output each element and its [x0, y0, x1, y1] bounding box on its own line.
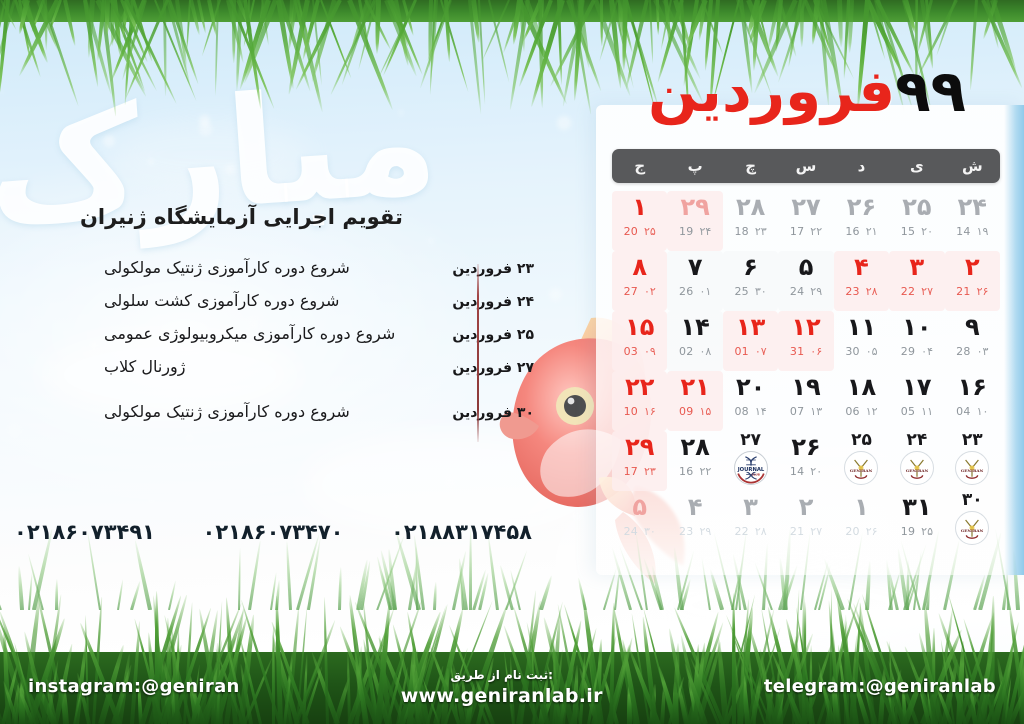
calendar-day-cell[interactable]: ۲۹۲۴19	[667, 191, 722, 251]
gregorian-date: 30	[845, 345, 859, 358]
day-subdates: ۱۹14	[956, 225, 988, 238]
hijri-date: ۲۲	[699, 465, 711, 478]
day-number: ۲۵	[902, 195, 931, 220]
gregorian-date: 04	[956, 405, 970, 418]
calendar-day-cell[interactable]: ۷۰۱26	[667, 251, 722, 311]
day-subdates: ۲۸22	[734, 525, 766, 538]
day-number: ۲۴	[958, 195, 987, 220]
hijri-date: ۰۱	[699, 285, 711, 298]
gregorian-date: 03	[624, 345, 638, 358]
event-date: ۳۰ فروردین	[479, 405, 534, 421]
instagram-handle[interactable]: instagram:@geniran	[28, 676, 240, 697]
footer-bar: instagram:@geniran ثبت نام از طریق: www.…	[0, 648, 1024, 724]
calendar-day-cell[interactable]: ۲۲۷21	[778, 491, 833, 551]
gregorian-date: 01	[734, 345, 748, 358]
calendar-day-cell[interactable]: ۲۲۶21	[945, 251, 1000, 311]
hijri-date: ۲۸	[755, 525, 767, 538]
hijri-date: ۲۶	[977, 285, 989, 298]
day-subdates: ۰۷01	[734, 345, 766, 358]
geniran-logo-icon: GENIRAN	[844, 451, 878, 485]
day-subdates: ۲۳17	[624, 465, 656, 478]
day-subdates: ۲۵19	[901, 525, 933, 538]
hijri-date: ۳۰	[644, 525, 656, 538]
calendar-day-cell[interactable]: ۱۶۱۰04	[945, 371, 1000, 431]
hijri-date: ۰۵	[866, 345, 878, 358]
gregorian-date: 21	[956, 285, 970, 298]
gregorian-date: 29	[901, 345, 915, 358]
day-subdates: ۰۹03	[624, 345, 656, 358]
gregorian-date: 02	[679, 345, 693, 358]
hijri-date: ۲۹	[810, 285, 822, 298]
hijri-date: ۰۲	[644, 285, 656, 298]
day-number: ۳	[743, 495, 758, 520]
gregorian-date: 21	[790, 525, 804, 538]
day-number: ۲۵	[851, 432, 872, 450]
hijri-date: ۲۰	[921, 225, 933, 238]
hijri-date: ۱۳	[810, 405, 822, 418]
day-number: ۱۸	[847, 375, 876, 400]
event-title: شروع دوره کارآموزی ژنتیک مولکولی	[104, 402, 479, 421]
day-subdates: ۱۶10	[624, 405, 656, 418]
day-subdates: ۳۰24	[624, 525, 656, 538]
day-subdates: ۲۴19	[679, 225, 711, 238]
hijri-date: ۲۸	[866, 285, 878, 298]
weekday-label: ی	[889, 149, 944, 183]
registration-info: ثبت نام از طریق: www.geniranlab.ir	[401, 663, 603, 709]
event-list-divider	[477, 264, 479, 442]
day-subdates: ۲۲17	[790, 225, 822, 238]
gregorian-date: 15	[901, 225, 915, 238]
page-title: تقویم اجرایی آزمایشگاه ژنیران	[80, 205, 500, 229]
hijri-date: ۰۳	[977, 345, 989, 358]
hijri-date: ۱۹	[977, 225, 989, 238]
day-number: ۱	[632, 195, 647, 220]
gregorian-date: 16	[845, 225, 859, 238]
weekday-label: چ	[723, 149, 778, 183]
weekday-label: د	[834, 149, 889, 183]
hijri-date: ۲۴	[699, 225, 711, 238]
gregorian-date: 24	[624, 525, 638, 538]
calendar-day-cell[interactable]: ۳۲۸22	[723, 491, 778, 551]
calendar-day-cell[interactable]: ۴۲۸23	[834, 251, 889, 311]
day-number: ۱۲	[791, 315, 820, 340]
calendar-day-cell[interactable]: ۲۲۱۶10	[612, 371, 667, 431]
day-number: ۱	[854, 495, 869, 520]
hijri-date: ۲۰	[810, 465, 822, 478]
weekday-label: س	[778, 149, 833, 183]
gregorian-date: 10	[624, 405, 638, 418]
event-row: ۳۰ فروردینشروع دوره کارآموزی ژنتیک مولکو…	[104, 402, 534, 435]
calendar-day-cell[interactable]: ۲۰۱۴08	[723, 371, 778, 431]
day-number: ۲۱	[681, 375, 710, 400]
hijri-date: ۰۷	[755, 345, 767, 358]
calendar-day-cell[interactable]: ۵۲۹24	[778, 251, 833, 311]
hijri-date: ۲۳	[755, 225, 767, 238]
gregorian-date: 26	[679, 285, 693, 298]
gregorian-date: 14	[956, 225, 970, 238]
telegram-handle[interactable]: telegram:@geniranlab	[764, 676, 996, 697]
hijri-date: ۱۵	[699, 405, 711, 418]
day-subdates: ۳۰25	[734, 285, 766, 298]
svg-text:GENIRAN: GENIRAN	[850, 468, 873, 473]
calendar-day-cell[interactable]: ۵۳۰24	[612, 491, 667, 551]
day-number: ۲۷	[740, 432, 761, 450]
calendar-day-cell[interactable]: ۲۴GENIRAN	[889, 431, 944, 491]
calendar-day-cell[interactable]: ۱۰۰۴29	[889, 311, 944, 371]
day-number: ۱۱	[847, 315, 876, 340]
day-subdates: ۲۳18	[734, 225, 766, 238]
day-subdates: ۲۹24	[790, 285, 822, 298]
calendar-day-cell[interactable]: ۱۹۱۳07	[778, 371, 833, 431]
hijri-date: ۲۷	[810, 525, 822, 538]
weekday-label: پ	[667, 149, 722, 183]
svg-text:GENIRAN: GENIRAN	[961, 528, 984, 533]
hijri-date: ۲۷	[921, 285, 933, 298]
calendar-day-cell[interactable]: ۹۰۳28	[945, 311, 1000, 371]
day-subdates: ۱۵09	[679, 405, 711, 418]
gregorian-date: 23	[845, 285, 859, 298]
calendar-day-cell[interactable]: ۱۳۰۷01	[723, 311, 778, 371]
day-subdates: ۲۶20	[845, 525, 877, 538]
hijri-date: ۰۹	[644, 345, 656, 358]
day-number: ۱۴	[681, 315, 710, 340]
day-number: ۳۰	[962, 492, 983, 510]
calendar-day-cell[interactable]: ۲۵۲۰15	[889, 191, 944, 251]
gregorian-date: 23	[679, 525, 693, 538]
calendar-day-cell[interactable]: ۱۷۱۱05	[889, 371, 944, 431]
day-subdates: ۱۱05	[901, 405, 933, 418]
hijri-date: ۲۵	[921, 525, 933, 538]
day-subdates: ۲۲16	[679, 465, 711, 478]
hijri-date: ۲۶	[866, 525, 878, 538]
gregorian-date: 17	[790, 225, 804, 238]
gregorian-date: 25	[734, 285, 748, 298]
day-subdates: ۰۴29	[901, 345, 933, 358]
day-number: ۳	[910, 255, 925, 280]
gregorian-date: 09	[679, 405, 693, 418]
day-number: ۱۷	[902, 375, 931, 400]
event-date: ۲۵ فروردین	[479, 327, 534, 343]
event-list: ۲۳ فروردینشروع دوره کارآموزی ژنتیک مولکو…	[104, 258, 534, 435]
day-number: ۱۵	[625, 315, 654, 340]
calendar-day-cell[interactable]: ۲۵GENIRAN	[834, 431, 889, 491]
gregorian-date: 28	[956, 345, 970, 358]
svg-text:GENIRAN: GENIRAN	[961, 468, 984, 473]
day-subdates: ۰۱26	[679, 285, 711, 298]
day-subdates: ۲۹23	[679, 525, 711, 538]
calendar-day-cell[interactable]: ۲۶۲۰14	[778, 431, 833, 491]
day-number: ۲۳	[962, 432, 983, 450]
hijri-date: ۰۴	[921, 345, 933, 358]
calendar-day-cell[interactable]: ۳۱۲۵19	[889, 491, 944, 551]
weekday-label: ج	[612, 149, 667, 183]
calendar-day-cell[interactable]: ۲۱۱۵09	[667, 371, 722, 431]
event-date: ۲۴ فروردین	[479, 294, 534, 310]
gregorian-date: 24	[790, 285, 804, 298]
event-row: ۲۵ فروردینشروع دوره کارآموزی میکروبیولوژ…	[104, 324, 534, 357]
day-subdates: ۲۵20	[624, 225, 656, 238]
calendar-day-cell[interactable]: ۲۹۲۳17	[612, 431, 667, 491]
day-number: ۸	[632, 255, 647, 280]
day-subdates: ۲۰14	[790, 465, 822, 478]
gregorian-date: 31	[790, 345, 804, 358]
gregorian-date: 27	[624, 285, 638, 298]
day-subdates: ۰۲27	[624, 285, 656, 298]
calendar-day-cell[interactable]: ۱۵۰۹03	[612, 311, 667, 371]
hijri-date: ۱۱	[921, 405, 933, 418]
day-number: ۲	[965, 255, 980, 280]
register-label: ثبت نام از طریق:	[451, 668, 553, 682]
hijri-date: ۱۴	[755, 405, 767, 418]
hijri-date: ۱۰	[977, 405, 989, 418]
event-title: شروع دوره کارآموزی کشت سلولی	[104, 291, 479, 310]
day-subdates: ۲۶21	[956, 285, 988, 298]
calendar-day-cell[interactable]: ۲۶۲۱16	[834, 191, 889, 251]
day-subdates: ۲۷22	[901, 285, 933, 298]
event-row: ۲۴ فروردینشروع دوره کارآموزی کشت سلولی	[104, 291, 534, 324]
day-number: ۲	[799, 495, 814, 520]
gregorian-date: 08	[734, 405, 748, 418]
gregorian-date: 14	[790, 465, 804, 478]
day-subdates: ۰۵30	[845, 345, 877, 358]
calendar-day-cell[interactable]: ۶۳۰25	[723, 251, 778, 311]
day-number: ۲۸	[681, 435, 710, 460]
hijri-date: ۰۶	[810, 345, 822, 358]
hijri-date: ۱۶	[644, 405, 656, 418]
gregorian-date: 16	[679, 465, 693, 478]
phone-number: ۰۲۱۸۶۰۷۳۴۷۰	[203, 520, 344, 544]
day-number: ۲۹	[681, 195, 710, 220]
gregorian-date: 18	[734, 225, 748, 238]
day-subdates: ۰۶31	[790, 345, 822, 358]
journal-club-logo-icon: JOURNALCLUB	[734, 451, 768, 485]
website-link[interactable]: www.geniranlab.ir	[401, 685, 603, 707]
day-number: ۱۹	[791, 375, 820, 400]
calendar-day-cell[interactable]: ۲۸۲۲16	[667, 431, 722, 491]
hijri-date: ۱۲	[866, 405, 878, 418]
day-subdates: ۲۸23	[845, 285, 877, 298]
day-subdates: ۱۰04	[956, 405, 988, 418]
event-row: ۲۷ فروردینژورنال کلاب	[104, 357, 534, 390]
phone-number: ۰۲۱۸۸۳۱۷۴۵۸	[391, 520, 532, 544]
day-subdates: ۱۴08	[734, 405, 766, 418]
calendar-day-cell[interactable]: ۱۱۰۵30	[834, 311, 889, 371]
gregorian-date: 06	[845, 405, 859, 418]
weekday-header: ش ی د س چ پ ج	[612, 149, 1000, 183]
day-subdates: ۱۲06	[845, 405, 877, 418]
hijri-date: ۲۵	[644, 225, 656, 238]
event-title: ژورنال کلاب	[104, 357, 479, 376]
day-number: ۲۷	[791, 195, 820, 220]
hijri-date: ۰۸	[699, 345, 711, 358]
calendar-day-cell[interactable]: ۱۸۱۲06	[834, 371, 889, 431]
day-number: ۶	[743, 255, 758, 280]
hijri-date: ۲۹	[699, 525, 711, 538]
day-number: ۱۰	[902, 315, 931, 340]
event-row: ۲۳ فروردینشروع دوره کارآموزی ژنتیک مولکو…	[104, 258, 534, 291]
calendar-day-cell[interactable]: ۲۴۱۹14	[945, 191, 1000, 251]
day-number: ۹	[965, 315, 980, 340]
day-number: ۲۹	[625, 435, 654, 460]
day-subdates: ۲۰15	[901, 225, 933, 238]
gregorian-date: 20	[845, 525, 859, 538]
calendar-day-cell[interactable]: ۳۲۷22	[889, 251, 944, 311]
day-number: ۱۶	[958, 375, 987, 400]
calendar-poster: مبارک باد	[0, 0, 1024, 724]
day-number: ۲۰	[736, 375, 765, 400]
day-number: ۳۱	[902, 495, 931, 520]
day-number: ۴	[854, 255, 869, 280]
gregorian-date: 22	[901, 285, 915, 298]
gregorian-date: 22	[734, 525, 748, 538]
gregorian-date: 17	[624, 465, 638, 478]
calendar-grid: ۲۴۱۹14۲۵۲۰15۲۶۲۱16۲۷۲۲17۲۸۲۳18۲۹۲۴19۱۲۵2…	[612, 191, 1000, 551]
event-title: شروع دوره کارآموزی میکروبیولوژی عمومی	[104, 324, 479, 343]
event-date: ۲۷ فروردین	[479, 360, 534, 376]
calendar-day-cell[interactable]: ۱۴۰۸02	[667, 311, 722, 371]
geniran-logo-icon: GENIRAN	[900, 451, 934, 485]
event-title: شروع دوره کارآموزی ژنتیک مولکولی	[104, 258, 479, 277]
calendar-day-cell[interactable]: ۳۰GENIRAN	[945, 491, 1000, 551]
calendar-panel: ش ی د س چ پ ج ۲۴۱۹14۲۵۲۰15۲۶۲۱16۲۷۲۲17۲۸…	[596, 105, 1024, 575]
phone-numbers: ۰۲۱۸۸۳۱۷۴۵۸ ۰۲۱۸۶۰۷۳۴۷۰ ۰۲۱۸۶۰۷۳۴۹۱	[0, 512, 560, 552]
calendar-day-cell[interactable]: ۱۲۰۶31	[778, 311, 833, 371]
geniran-logo-icon: GENIRAN	[955, 511, 989, 545]
calendar-day-cell[interactable]: ۴۲۹23	[667, 491, 722, 551]
calendar-day-cell[interactable]: ۲۳GENIRAN	[945, 431, 1000, 491]
calendar-day-cell[interactable]: ۲۷۲۲17	[778, 191, 833, 251]
day-number: ۴	[688, 495, 703, 520]
hijri-date: ۳۰	[755, 285, 767, 298]
svg-text:GENIRAN: GENIRAN	[906, 468, 929, 473]
day-subdates: ۱۳07	[790, 405, 822, 418]
event-date: ۲۳ فروردین	[479, 261, 534, 277]
calendar-day-cell[interactable]: ۲۷JOURNALCLUB	[723, 431, 778, 491]
day-number: ۵	[632, 495, 647, 520]
day-number: ۵	[799, 255, 814, 280]
day-number: ۷	[688, 255, 703, 280]
day-number: ۲۶	[847, 195, 876, 220]
day-number: ۲۴	[906, 432, 927, 450]
hijri-date: ۲۲	[810, 225, 822, 238]
day-subdates: ۰۳28	[956, 345, 988, 358]
day-number: ۱۳	[736, 315, 765, 340]
day-subdates: ۲۱16	[845, 225, 877, 238]
phone-number: ۰۲۱۸۶۰۷۳۴۹۱	[14, 520, 155, 544]
day-subdates: ۲۷21	[790, 525, 822, 538]
day-number: ۲۲	[625, 375, 654, 400]
svg-text:CLUB: CLUB	[751, 472, 759, 476]
hijri-date: ۲۱	[866, 225, 878, 238]
calendar-day-cell[interactable]: ۱۲۶20	[834, 491, 889, 551]
gregorian-date: 07	[790, 405, 804, 418]
day-number: ۲۶	[791, 435, 820, 460]
gregorian-date: 20	[624, 225, 638, 238]
calendar-day-cell[interactable]: ۸۰۲27	[612, 251, 667, 311]
svg-text:JOURNAL: JOURNAL	[736, 467, 764, 473]
gregorian-date: 19	[901, 525, 915, 538]
gregorian-date: 05	[901, 405, 915, 418]
day-number: ۲۸	[736, 195, 765, 220]
hijri-date: ۲۳	[644, 465, 656, 478]
calendar-day-cell[interactable]: ۲۸۲۳18	[723, 191, 778, 251]
geniran-logo-icon: GENIRAN	[955, 451, 989, 485]
weekday-label: ش	[945, 149, 1000, 183]
gregorian-date: 19	[679, 225, 693, 238]
day-subdates: ۰۸02	[679, 345, 711, 358]
calendar-day-cell[interactable]: ۱۲۵20	[612, 191, 667, 251]
